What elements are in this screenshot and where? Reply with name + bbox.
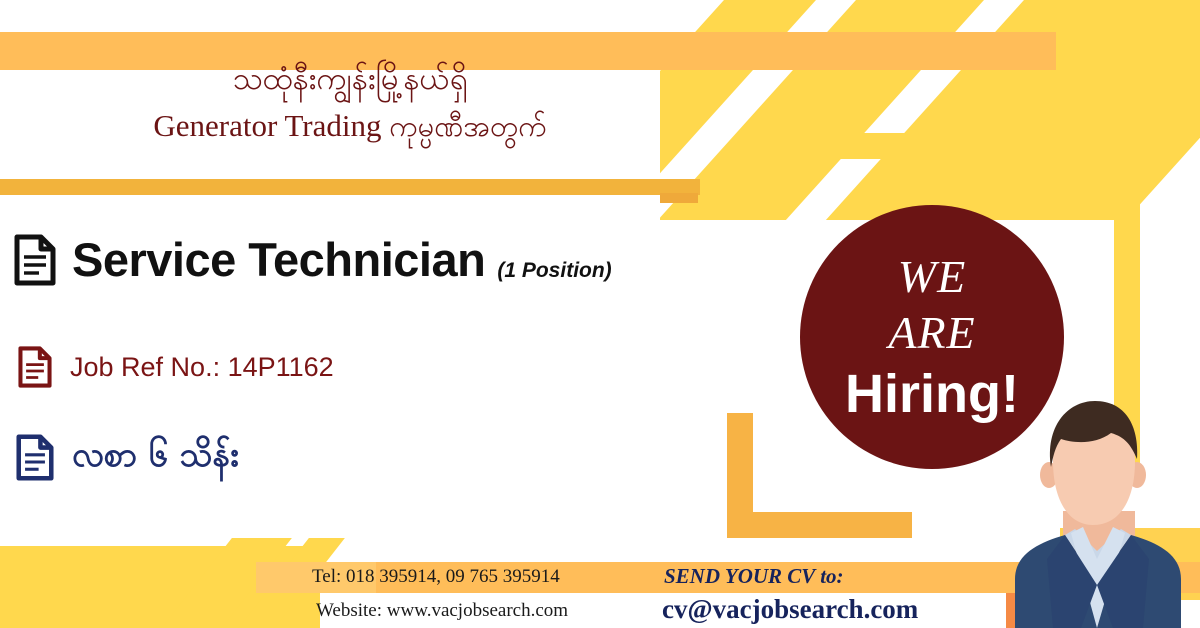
send-cv-label: SEND YOUR CV to:	[664, 564, 844, 589]
document-icon	[14, 234, 56, 286]
job-title: Service Technician	[72, 232, 485, 287]
job-reference-row: Job Ref No.: 14P1162	[18, 346, 334, 388]
job-advertisement-poster: သထုံနီးကျွန်းမြို့နယ်ရှိ Generator Tradi…	[0, 0, 1200, 628]
document-icon	[18, 346, 52, 388]
top-right-stripes-group	[660, 0, 1200, 220]
job-reference-number: Job Ref No.: 14P1162	[70, 352, 334, 383]
orange-bracket-horizontal	[727, 512, 912, 538]
badge-we-text: WE	[898, 249, 966, 305]
orange-bracket-vertical	[727, 413, 753, 538]
document-icon	[16, 434, 54, 481]
company-header: သထုံနီးကျွန်းမြို့နယ်ရှိ Generator Tradi…	[0, 56, 700, 150]
job-position-count: (1 Position)	[497, 259, 611, 287]
salary-amount: လစာ ၆ သိန်း	[72, 432, 239, 483]
contact-telephone: Tel: 018 395914, 09 765 395914	[312, 566, 560, 588]
header-company-line: Generator Trading ကုမ္ပဏီအတွက်	[0, 102, 700, 150]
header-bottom-bar	[0, 179, 700, 195]
header-location-line: သထုံနီးကျွန်းမြို့နယ်ရှိ	[0, 56, 700, 102]
header-company-suffix: ကုမ္ပဏီအတွက်	[389, 109, 546, 143]
badge-are-text: ARE	[888, 305, 975, 361]
contact-website: Website: www.vacjobsearch.com	[316, 600, 568, 622]
header-company-name: Generator Trading	[153, 108, 381, 143]
contact-email: cv@vacjobsearch.com	[662, 594, 918, 625]
salary-row: လစာ ၆ သိန်း	[16, 432, 239, 483]
job-title-row: Service Technician (1 Position)	[14, 232, 612, 287]
businessman-illustration	[985, 383, 1200, 628]
